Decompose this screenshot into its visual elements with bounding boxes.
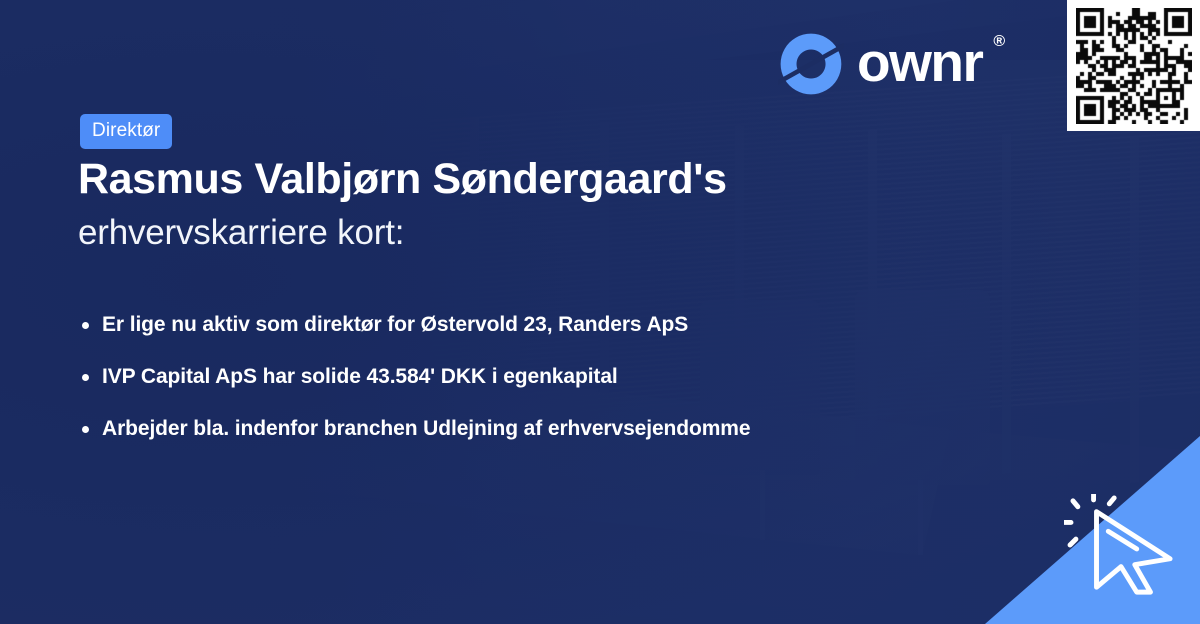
ownr-circle-mark-icon: [778, 31, 844, 97]
bullet-dot-icon: [82, 322, 89, 329]
bullet-dot-icon: [82, 374, 89, 381]
qr-code-panel[interactable]: [1067, 0, 1200, 131]
career-highlights-list: Er lige nu aktiv som direktør for Østerv…: [80, 313, 750, 441]
bullet-dot-icon: [82, 426, 89, 433]
list-item-text: Er lige nu aktiv som direktør for Østerv…: [102, 313, 688, 336]
page-title: Rasmus Valbjørn Søndergaard's: [78, 155, 727, 204]
promo-card: Direktør Rasmus Valbjørn Søndergaard's e…: [0, 0, 1200, 624]
click-cursor-icon: [1064, 494, 1182, 598]
list-item: Er lige nu aktiv som direktør for Østerv…: [80, 313, 750, 337]
list-item: IVP Capital ApS har solide 43.584' DKK i…: [80, 365, 750, 389]
list-item: Arbejder bla. indenfor branchen Udlejnin…: [80, 417, 750, 441]
registered-trademark-icon: ®: [993, 33, 1005, 51]
qr-code-icon[interactable]: [1076, 8, 1192, 124]
page-subtitle: erhvervskarriere kort:: [78, 213, 404, 253]
role-badge: Direktør: [80, 114, 172, 149]
list-item-text: IVP Capital ApS har solide 43.584' DKK i…: [102, 365, 618, 388]
list-item-text: Arbejder bla. indenfor branchen Udlejnin…: [102, 417, 750, 440]
ownr-logo[interactable]: ownr ®: [778, 31, 1007, 97]
ownr-wordmark: ownr: [857, 35, 982, 90]
